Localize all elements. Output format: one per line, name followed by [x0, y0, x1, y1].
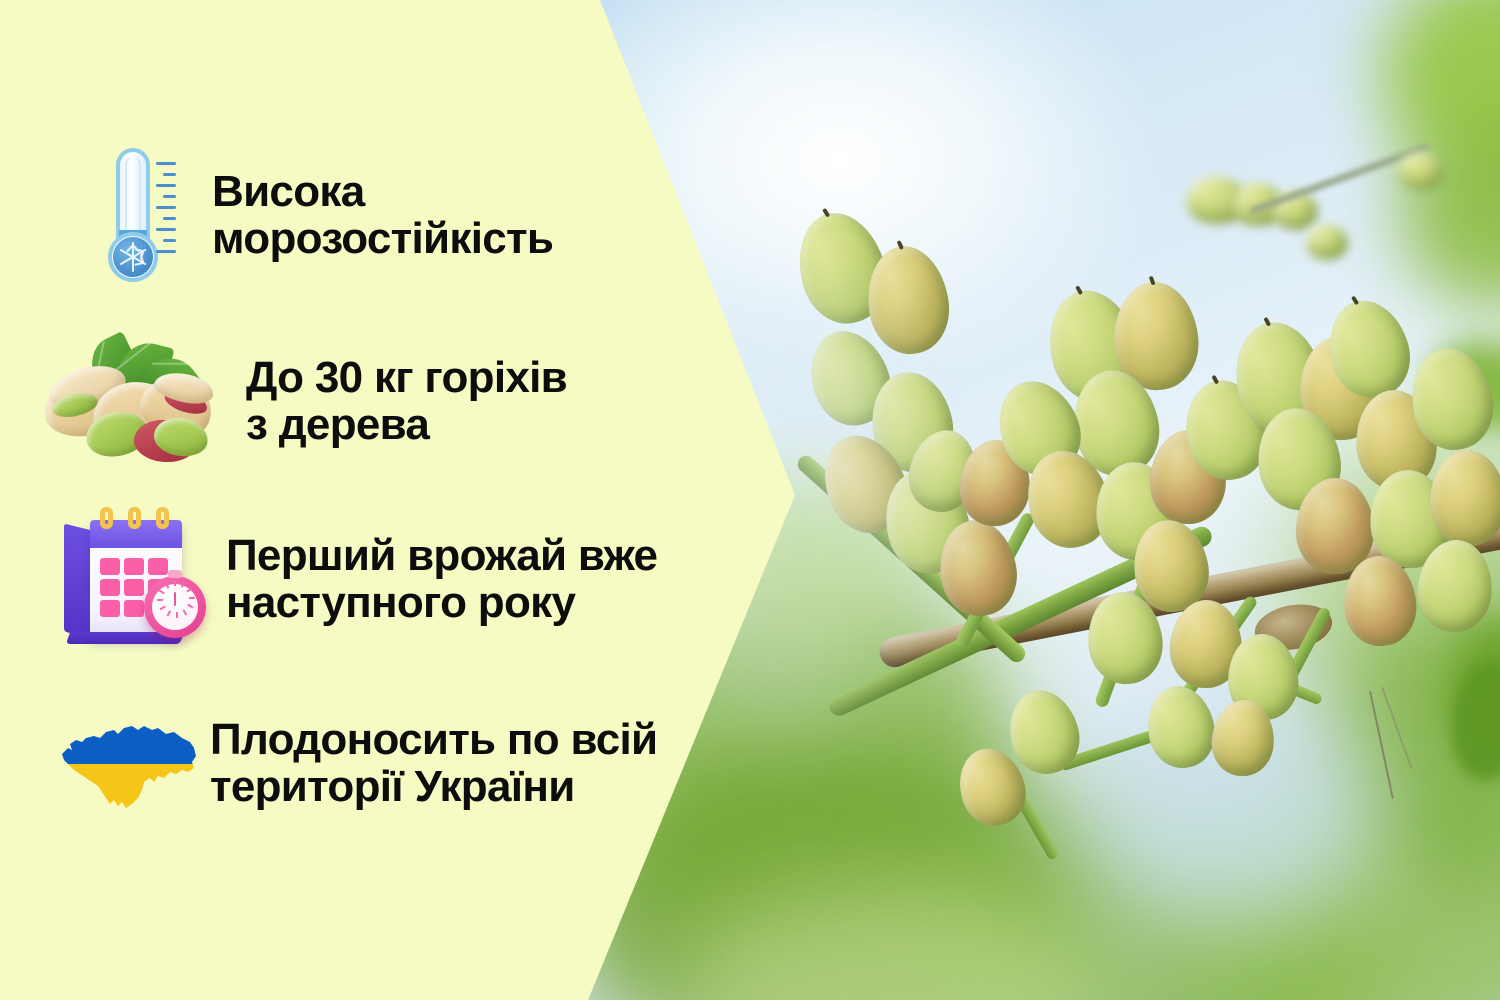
- feature-yield-per-tree: До 30 кг горіхів з дерева: [42, 338, 567, 466]
- pistachio-nuts-icon: [42, 338, 214, 466]
- calendar-ring-3: [156, 507, 169, 529]
- feature-grows-nationwide: Плодоносить по всій території України: [58, 716, 657, 812]
- nut-distant-e: [1398, 152, 1444, 190]
- calendar-clock-icon: [58, 514, 208, 646]
- snowflake-icon: [113, 237, 153, 277]
- feature-frost-resistance: Висока морозостійкість: [100, 148, 553, 283]
- clock-icon: [144, 576, 206, 638]
- nut-distant-d: [1306, 224, 1348, 260]
- feature-first-harvest: Перший врожай вже наступного року: [58, 514, 657, 646]
- calendar-ring-1: [100, 507, 113, 529]
- nut-r7: [1296, 478, 1374, 574]
- ukraine-map-icon: [58, 716, 198, 812]
- feature-yield-label: До 30 кг горіхів з дерева: [246, 355, 567, 448]
- feature-nationwide-label: Плодоносить по всій території України: [210, 717, 657, 810]
- thermometer-snowflake-icon: [100, 148, 170, 283]
- feature-frost-label: Висока морозостійкість: [212, 169, 553, 262]
- infographic-banner: Висока морозостійкість: [0, 0, 1500, 1000]
- feature-harvest-label: Перший врожай вже наступного року: [226, 533, 657, 626]
- calendar-ring-2: [128, 507, 141, 529]
